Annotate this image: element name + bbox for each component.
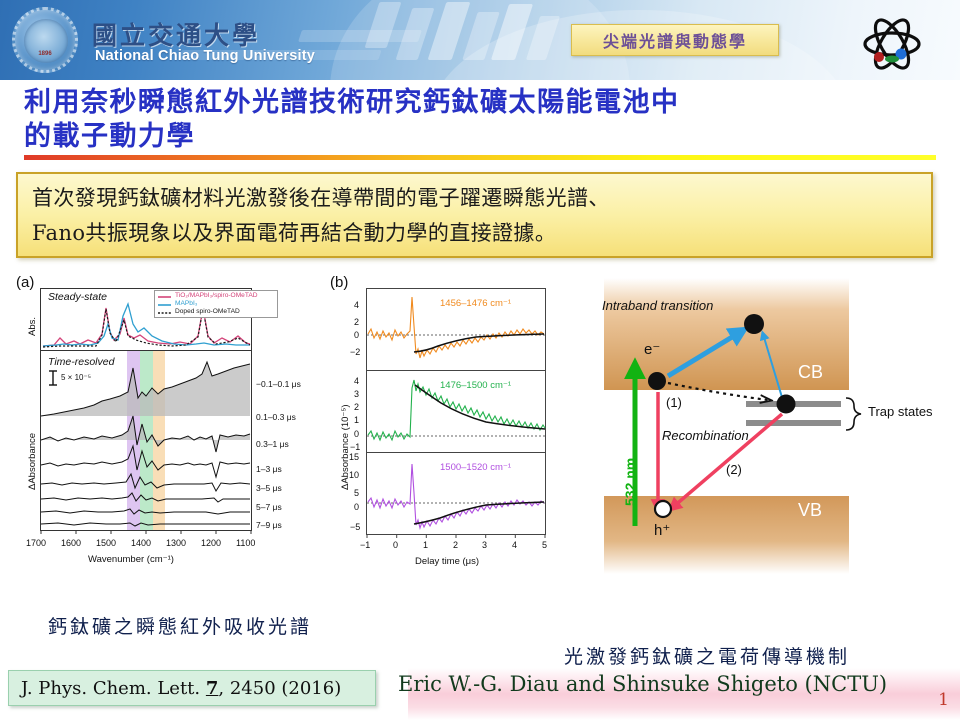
panel-b-plot [366, 288, 546, 538]
panel-b-s1-ytick-1: 3 [354, 389, 359, 399]
summary-line-1: 首次發現鈣鈦礦材料光激發後在導帶間的電子躍遷瞬態光譜、 [32, 181, 917, 216]
panel-a-xtick-3: 1400 [131, 538, 151, 548]
intraband-transition-label: Intraband transition [602, 298, 713, 313]
panel-b-s1-ytick-5: −1 [350, 442, 360, 452]
panel-b-s2-ytick-3: 0 [354, 502, 359, 512]
panel-a-time-label-4: 3–5 μs [256, 483, 282, 493]
caption-right: 光激發鈣鈦礦之電荷傳導機制 [564, 642, 850, 669]
reference-chip: J. Phys. Chem. Lett. 7, 2450 (2016) [8, 670, 376, 706]
panel-a-scalebar-icon [47, 370, 59, 386]
panel-b-xtick-3: 2 [453, 540, 458, 550]
panel-b-xtick-4: 3 [482, 540, 487, 550]
title-line-2: 的載子動力學 [24, 120, 936, 154]
panel-b-s1-ytick-4: 0 [354, 429, 359, 439]
topic-chip-label: 尖端光譜與動態學 [603, 28, 747, 52]
header-banner: 1896 國立交通大學 National Chiao Tung Universi… [0, 0, 960, 80]
panel-a-xtick-5: 1200 [201, 538, 221, 548]
hole-label: h⁺ [654, 521, 670, 539]
panel-a-time-label-2: 0.3–1 μs [256, 439, 289, 449]
legend-swatches [157, 293, 173, 319]
summary-line-2: Fano共振現象以及界面電荷再結合動力學的直接證據。 [32, 216, 917, 251]
university-name-en: National Chiao Tung University [95, 48, 315, 64]
panel-b-s0-ytick-3: −2 [350, 347, 360, 357]
figure-panel-a: (a) Abs. ΔAbsorbance [14, 274, 324, 592]
panel-b-xtick-5: 4 [512, 540, 517, 550]
panel-b-s1-ytick-3: 1 [354, 415, 359, 425]
authors-line: Eric W.-G. Diau and Shinsuke Shigeto (NC… [398, 672, 887, 696]
vb-label: VB [798, 500, 822, 521]
panel-b-subplot-label-0: 1456–1476 cm⁻¹ [440, 298, 511, 309]
panel-a-xtick-6: 1100 [236, 538, 255, 548]
panel-a-xtick-4: 1300 [166, 538, 186, 548]
university-name-cn: 國立交通大學 [92, 16, 260, 52]
panel-a-time-label-0: −0.1–0.1 μs [256, 379, 301, 389]
reference-text: J. Phys. Chem. Lett. 7, 2450 (2016) [21, 678, 341, 699]
panel-b-xtick-1: 0 [393, 540, 398, 550]
figure-panel-c-band-diagram: Intraband transition e⁻ h⁺ CB VB 532 nm … [596, 276, 948, 576]
panel-a-y-axis-top: Abs. [27, 317, 38, 336]
panel-b-subplot-label-2: 1500–1520 cm⁻¹ [440, 462, 511, 473]
band-diagram-svg [596, 276, 948, 576]
summary-callout-box: 首次發現鈣鈦礦材料光激發後在導帶間的電子躍遷瞬態光譜、 Fano共振現象以及界面… [16, 172, 933, 258]
header-decor-bar [298, 30, 422, 42]
title-line-1: 利用奈秒瞬態紅外光譜技術研究鈣鈦礦太陽能電池中 [24, 86, 936, 120]
page-title: 利用奈秒瞬態紅外光譜技術研究鈣鈦礦太陽能電池中 的載子動力學 [24, 86, 936, 154]
panel-a-time-resolved-label: Time-resolved [48, 356, 114, 368]
electron-label: e⁻ [644, 340, 660, 358]
panel-b-s0-ytick-0: 4 [354, 300, 359, 310]
panel-b-s1-ytick-0: 4 [354, 376, 359, 386]
panel-a-time-label-1: 0.1–0.3 μs [256, 412, 296, 422]
panel-b-xtick-6: 5 [542, 540, 547, 550]
reference-prefix: J. Phys. Chem. Lett. [21, 678, 206, 699]
panel-a-plot [40, 288, 252, 536]
pump-wavelength-label: 532 nm [622, 458, 638, 506]
panel-b-s2-ytick-4: −5 [350, 522, 360, 532]
nctu-seal-icon: 1896 [12, 7, 78, 73]
panel-b-s0-ytick-1: 2 [354, 317, 359, 327]
process-1-label: (1) [666, 395, 682, 410]
topic-chip: 尖端光譜與動態學 [571, 24, 779, 56]
reference-volume: 7 [206, 678, 219, 699]
recombination-label: Recombination [662, 428, 749, 443]
panel-a-xtick-0: 1700 [26, 538, 46, 548]
panel-a-tag: (a) [16, 274, 34, 291]
panel-b-s1-ytick-2: 2 [354, 402, 359, 412]
figure-panel-b: (b) ΔAbsorbance (10⁻⁵) [330, 274, 580, 592]
panel-a-xtick-2: 1500 [96, 538, 116, 548]
panel-a-x-axis-title: Wavenumber (cm⁻¹) [88, 554, 174, 565]
panel-b-subplot-label-1: 1476–1500 cm⁻¹ [440, 380, 511, 391]
panel-a-legend: TiO₂/MAPbI₃/spiro-OMeTAD MAPbI₃ Doped sp… [154, 290, 278, 318]
legend-label-0: TiO₂/MAPbI₃/spiro-OMeTAD [175, 292, 258, 299]
panel-a-steady-state-label: Steady-state [48, 291, 107, 303]
panel-a-time-label-3: 1–3 μs [256, 464, 282, 474]
atom-icon [861, 18, 923, 70]
panel-b-xtick-2: 1 [423, 540, 428, 550]
page-number: 1 [938, 690, 949, 710]
figure-area: (a) Abs. ΔAbsorbance [0, 268, 960, 598]
panel-a-y-axis-bottom: ΔAbsorbance [27, 433, 38, 490]
panel-b-xtick-0: −1 [360, 540, 370, 550]
panel-a-time-label-6: 7–9 μs [256, 520, 282, 530]
panel-b-s2-ytick-0: 15 [349, 452, 359, 462]
caption-left: 鈣鈦礦之瞬態紅外吸收光譜 [48, 612, 312, 639]
legend-label-2: Doped spiro-OMeTAD [175, 308, 240, 315]
panel-b-x-axis-title: Delay time (μs) [415, 556, 479, 567]
legend-label-1: MAPbI₃ [175, 300, 197, 307]
reference-suffix: , 2450 (2016) [218, 678, 341, 699]
panel-a-time-label-5: 5–7 μs [256, 502, 282, 512]
cb-label: CB [798, 362, 823, 383]
seal-year-label: 1896 [15, 51, 75, 57]
panel-b-s2-ytick-1: 10 [349, 470, 359, 480]
trap-states-label: Trap states [868, 404, 933, 419]
panel-b-s0-ytick-2: 0 [354, 330, 359, 340]
panel-a-scalebar-label: 5 × 10⁻⁵ [61, 373, 91, 382]
title-underline-rule [24, 155, 936, 160]
panel-b-s2-ytick-2: 5 [354, 488, 359, 498]
panel-b-tag: (b) [330, 274, 348, 291]
panel-a-xtick-1: 1600 [61, 538, 81, 548]
process-2-label: (2) [726, 462, 742, 477]
